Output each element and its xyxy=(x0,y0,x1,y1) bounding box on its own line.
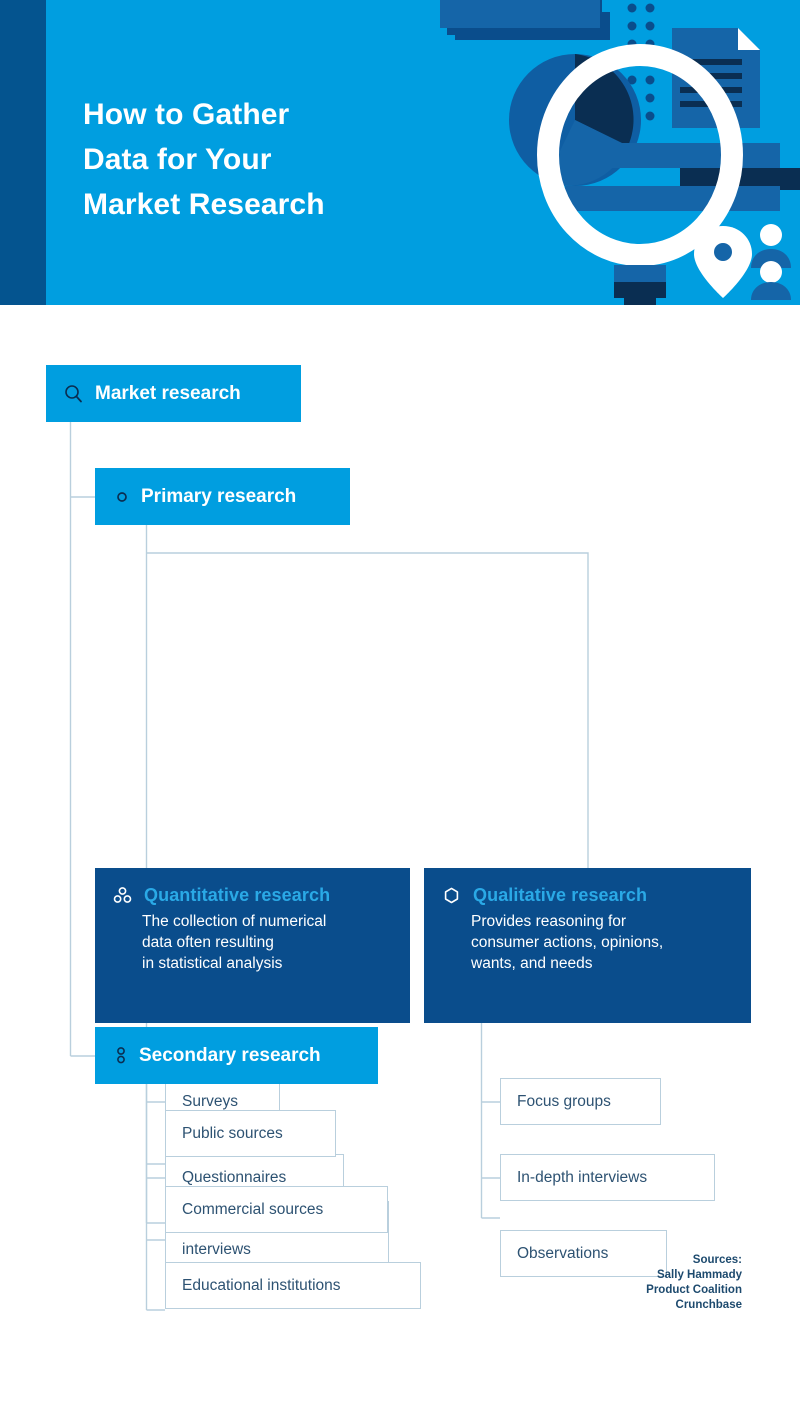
node-primary-research[interactable]: Primary research xyxy=(95,468,350,525)
node-market-research[interactable]: Market research xyxy=(46,365,301,422)
leaf-secondary-3[interactable]: Educational institutions xyxy=(165,1262,421,1309)
magnifier-icon xyxy=(64,384,83,403)
two-circles-icon xyxy=(115,1046,127,1065)
leaf-qualitative-2[interactable]: In-depth interviews xyxy=(500,1154,715,1201)
node-secondary-research[interactable]: Secondary research xyxy=(95,1027,378,1084)
card-description: The collection of numerical data often r… xyxy=(142,911,390,974)
page-title: How to Gather Data for Your Market Resea… xyxy=(83,92,325,227)
map-pin-icon xyxy=(694,226,752,298)
leaf-qualitative-3[interactable]: Observations xyxy=(500,1230,667,1277)
leaf-secondary-2[interactable]: Commercial sources xyxy=(165,1186,388,1233)
node-label: Market research xyxy=(95,383,241,405)
rect-front-icon xyxy=(440,0,600,28)
hexagon-icon xyxy=(442,886,461,905)
leaf-qualitative-1[interactable]: Focus groups xyxy=(500,1078,661,1125)
card-description: Provides reasoning for consumer actions,… xyxy=(471,911,731,974)
card-qualitative-research[interactable]: Qualitative research Provides reasoning … xyxy=(424,868,751,1023)
node-label: Primary research xyxy=(141,486,296,508)
bar-chart-bar-3-icon xyxy=(565,186,780,211)
header-banner: How to Gather Data for Your Market Resea… xyxy=(0,0,800,305)
card-header: Quantitative research xyxy=(113,885,390,906)
node-label: Secondary research xyxy=(139,1045,321,1067)
card-title: Qualitative research xyxy=(473,885,647,906)
sources-credit: Sources: Sally Hammady Product Coalition… xyxy=(646,1253,742,1313)
circle-outline-icon xyxy=(115,490,129,504)
leaf-secondary-1[interactable]: Public sources xyxy=(165,1110,336,1157)
card-quantitative-research[interactable]: Quantitative research The collection of … xyxy=(95,868,410,1023)
card-header: Qualitative research xyxy=(442,885,731,906)
card-title: Quantitative research xyxy=(144,885,330,906)
bar-chart-bar-1-icon xyxy=(595,143,780,168)
people-icon xyxy=(751,224,791,300)
diagram-area: Market research Primary research Quantit… xyxy=(0,305,800,1387)
three-circles-icon xyxy=(113,886,132,905)
